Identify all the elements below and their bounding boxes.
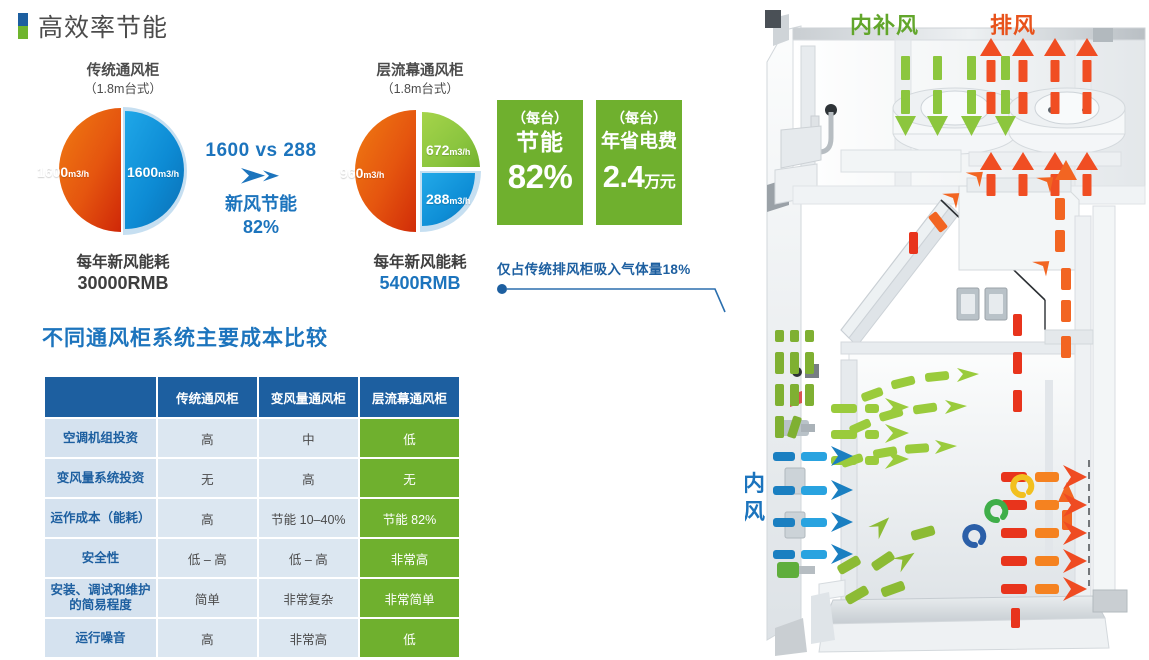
pie-1-footer-value: 30000RMB [28, 273, 218, 293]
label-internal-supply-air: 内补风 [850, 8, 919, 40]
table-cell: 高 [158, 419, 257, 457]
table-cell: 节能 10–40% [259, 499, 358, 537]
pie-2-slice-label-1: 960m3/h [340, 165, 384, 181]
page-title: 高效率节能 [38, 8, 168, 44]
poster-root: 高效率节能 传统通风柜 （1.8m台式） [0, 0, 1149, 660]
badge-2-mid: 年省电费 [601, 127, 677, 157]
table-row-label: 安全性 [45, 539, 156, 577]
pie-1-subtitle: （1.8m台式） [28, 80, 218, 98]
table-row-label: 运作成本（能耗） [45, 499, 156, 537]
pie-1-slice-label-2: 1600m3/h [127, 164, 179, 180]
table-row: 运作成本（能耗） 高 节能 10–40% 节能 82% [45, 499, 459, 537]
table-row-label: 变风量系统投资 [45, 459, 156, 497]
table-row-label: 空调机组投资 [45, 419, 156, 457]
table-col-header-2: 变风量通风柜 [259, 377, 358, 417]
callout-leader-line [497, 281, 727, 313]
table-cell: 低 – 高 [259, 539, 358, 577]
table-cell: 非常高 [259, 619, 358, 657]
comparison-headline: 1600 vs 288 [196, 140, 326, 162]
pie-1-slice-label-1: 1600m3/h [37, 164, 89, 180]
table-row: 安全性 低 – 高 低 – 高 非常高 [45, 539, 459, 577]
table-col-header-0 [45, 377, 156, 417]
pie-2-footer: 每年新风能耗 5400RMB [330, 253, 510, 293]
fume-hood-illustration [745, 0, 1149, 660]
fume-hood-diagram: 内补风 排风 室内 新风 [745, 0, 1149, 660]
table-cell: 低 – 高 [158, 539, 257, 577]
table-col-header-1: 传统通风柜 [158, 377, 257, 417]
brand-mark-icon [18, 13, 28, 39]
badge-2-value: 2.4万元 [603, 157, 676, 203]
table-row-label: 安装、调试和维护的简易程度 [45, 579, 156, 617]
table-cell-highlight: 非常简单 [360, 579, 459, 617]
table-cell-highlight: 无 [360, 459, 459, 497]
table-cell: 无 [158, 459, 257, 497]
table-col-header-3: 层流幕通风柜 [360, 377, 459, 417]
page-header: 高效率节能 [18, 8, 168, 44]
table-row-label: 运行噪音 [45, 619, 156, 657]
arrow-right-icon [239, 166, 283, 186]
comparison-sub-line2: 82% [196, 216, 326, 239]
callout-group: 仅占传统排风柜吸入气体量18% [497, 258, 727, 313]
comparison-block: 1600 vs 288 新风节能 82% [196, 140, 326, 239]
cost-comparison-table: 传统通风柜 变风量通风柜 层流幕通风柜 空调机组投资 高 中 低 变风量系统投资… [43, 375, 461, 659]
badge-1-top: （每台） [512, 109, 568, 127]
table-row: 安装、调试和维护的简易程度 简单 非常复杂 非常简单 [45, 579, 459, 617]
badge-1-mid: 节能 [516, 127, 564, 157]
pie-2-title: 层流幕通风柜 [330, 62, 510, 80]
table-cell-highlight: 节能 82% [360, 499, 459, 537]
comparison-sub-line1: 新风节能 [196, 193, 326, 216]
table-cell-highlight: 低 [360, 419, 459, 457]
table-cell: 高 [158, 619, 257, 657]
pie-1-caption: 传统通风柜 （1.8m台式） [28, 62, 218, 98]
table-title: 不同通风柜系统主要成本比较 [42, 322, 328, 352]
badge-energy-saving: （每台） 节能 82% [497, 100, 583, 225]
pie-1-footer-label: 每年新风能耗 [28, 253, 218, 273]
pie-2-slice-label-3: 288m3/h [426, 191, 470, 207]
badge-annual-savings: （每台） 年省电费 2.4万元 [596, 100, 682, 225]
callout-text: 仅占传统排风柜吸入气体量18% [497, 258, 727, 278]
table-cell: 高 [259, 459, 358, 497]
pie-2-graphic: 960m3/h 672m3/h 288m3/h [330, 104, 510, 239]
table-cell: 非常复杂 [259, 579, 358, 617]
pie-1-footer: 每年新风能耗 30000RMB [28, 253, 218, 293]
table-row: 运行噪音 高 非常高 低 [45, 619, 459, 657]
table-row: 空调机组投资 高 中 低 [45, 419, 459, 457]
pie-2-slice-label-2: 672m3/h [426, 142, 470, 158]
label-exhaust-air: 排风 [990, 8, 1036, 40]
pie-2-caption: 层流幕通风柜 （1.8m台式） [330, 62, 510, 98]
pie-2-footer-label: 每年新风能耗 [330, 253, 510, 273]
table-cell-highlight: 低 [360, 619, 459, 657]
table-header-row: 传统通风柜 变风量通风柜 层流幕通风柜 [45, 377, 459, 417]
table-cell: 高 [158, 499, 257, 537]
pie-2-footer-value: 5400RMB [330, 273, 510, 293]
pie-2-subtitle: （1.8m台式） [330, 80, 510, 98]
badge-2-top: （每台） [611, 109, 667, 127]
table-cell: 简单 [158, 579, 257, 617]
pie-1-graphic: 1600m3/h 1600m3/h [28, 104, 218, 239]
table-cell: 中 [259, 419, 358, 457]
table-cell-highlight: 非常高 [360, 539, 459, 577]
label-indoor-fresh-air: 室内 新风 [745, 470, 766, 526]
badge-1-value: 82% [508, 157, 573, 197]
pie-chart-traditional: 传统通风柜 （1.8m台式） [28, 62, 218, 293]
highlight-badges: （每台） 节能 82% （每台） 年省电费 2.4万元 [497, 100, 682, 225]
pie-1-title: 传统通风柜 [28, 62, 218, 80]
table-row: 变风量系统投资 无 高 无 [45, 459, 459, 497]
pie-chart-laminar: 层流幕通风柜 （1.8m台式） [330, 62, 510, 293]
